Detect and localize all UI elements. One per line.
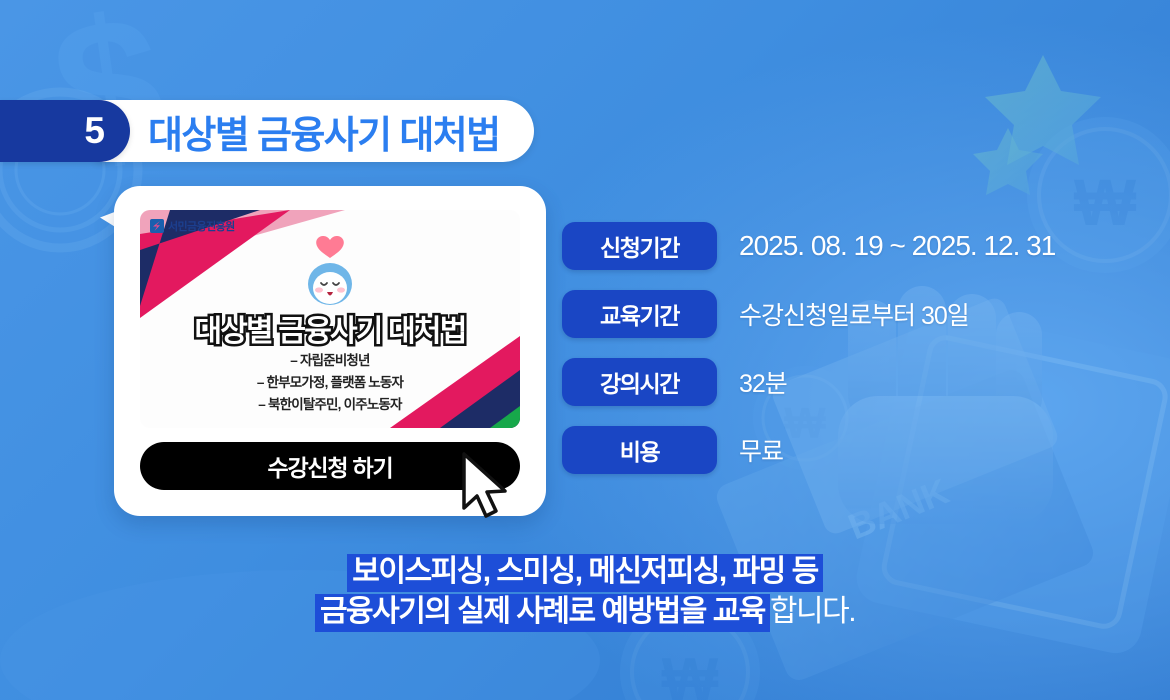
caption-tail: 합니다.	[770, 595, 855, 628]
status-badge: 신청기간	[562, 222, 717, 270]
svg-text:₩: ₩	[662, 646, 719, 700]
course-info-table: 신청기간 2025. 08. 19 ~ 2025. 12. 31 교육기간 수강…	[562, 222, 1055, 494]
info-row-application-period: 신청기간 2025. 08. 19 ~ 2025. 12. 31	[562, 222, 1055, 270]
caption-highlight: 금융사기의 실제 사례로 예방법을 교육	[315, 594, 770, 632]
enroll-button-label: 수강신청 하기	[268, 449, 393, 483]
status-badge: 강의시간	[562, 358, 717, 406]
course-thumbnail: 서민금융진흥원 대상별 금융사기 대처법 – 자립준비청년 – 한부모가정, 플…	[140, 210, 520, 428]
list-item: – 한부모가정, 플랫폼 노동자	[140, 372, 520, 394]
logo-mark-icon	[150, 219, 164, 233]
svg-text:₩: ₩	[1074, 165, 1137, 239]
section-number: 5	[84, 110, 104, 152]
section-title-pill: 대상별 금융사기 대처법	[96, 100, 534, 162]
mouse-cursor-icon	[458, 450, 514, 524]
info-row-education-period: 교육기간 수강신청일로부터 30일	[562, 290, 1055, 338]
page-title: 대상별 금융사기 대처법	[148, 104, 500, 159]
caption-line-1: 보이스피싱, 스미싱, 메신저피싱, 파밍 등	[0, 552, 1170, 592]
info-value: 무료	[739, 432, 783, 468]
target-audience-list: – 자립준비청년 – 한부모가정, 플랫폼 노동자 – 북한이탈주민, 이주노동…	[140, 350, 520, 416]
caption: 보이스피싱, 스미싱, 메신저피싱, 파밍 등 금융사기의 실제 사례로 예방법…	[0, 552, 1170, 631]
list-item: – 북한이탈주민, 이주노동자	[140, 394, 520, 416]
info-row-cost: 비용 무료	[562, 426, 1055, 474]
list-item: – 자립준비청년	[140, 350, 520, 372]
info-value: 32분	[739, 364, 787, 400]
status-badge: 교육기간	[562, 290, 717, 338]
organization-logo: 서민금융진흥원	[150, 218, 235, 234]
info-value: 수강신청일로부터 30일	[739, 296, 969, 332]
section-header: 5 대상별 금융사기 대처법	[0, 100, 534, 162]
caption-line-2: 금융사기의 실제 사례로 예방법을 교육합니다.	[0, 592, 1170, 632]
mascot-icon	[299, 236, 361, 310]
status-badge: 비용	[562, 426, 717, 474]
info-value: 2025. 08. 19 ~ 2025. 12. 31	[739, 230, 1055, 262]
section-number-badge: 5	[0, 100, 130, 162]
course-card[interactable]: 서민금융진흥원 대상별 금융사기 대처법 – 자립준비청년 – 한부모가정, 플…	[114, 186, 546, 516]
thumbnail-title: 대상별 금융사기 대처법	[140, 306, 520, 350]
info-row-lecture-time: 강의시간 32분	[562, 358, 1055, 406]
logo-text: 서민금융진흥원	[168, 218, 235, 234]
caption-highlight: 보이스피싱, 스미싱, 메신저피싱, 파밍 등	[347, 554, 822, 592]
